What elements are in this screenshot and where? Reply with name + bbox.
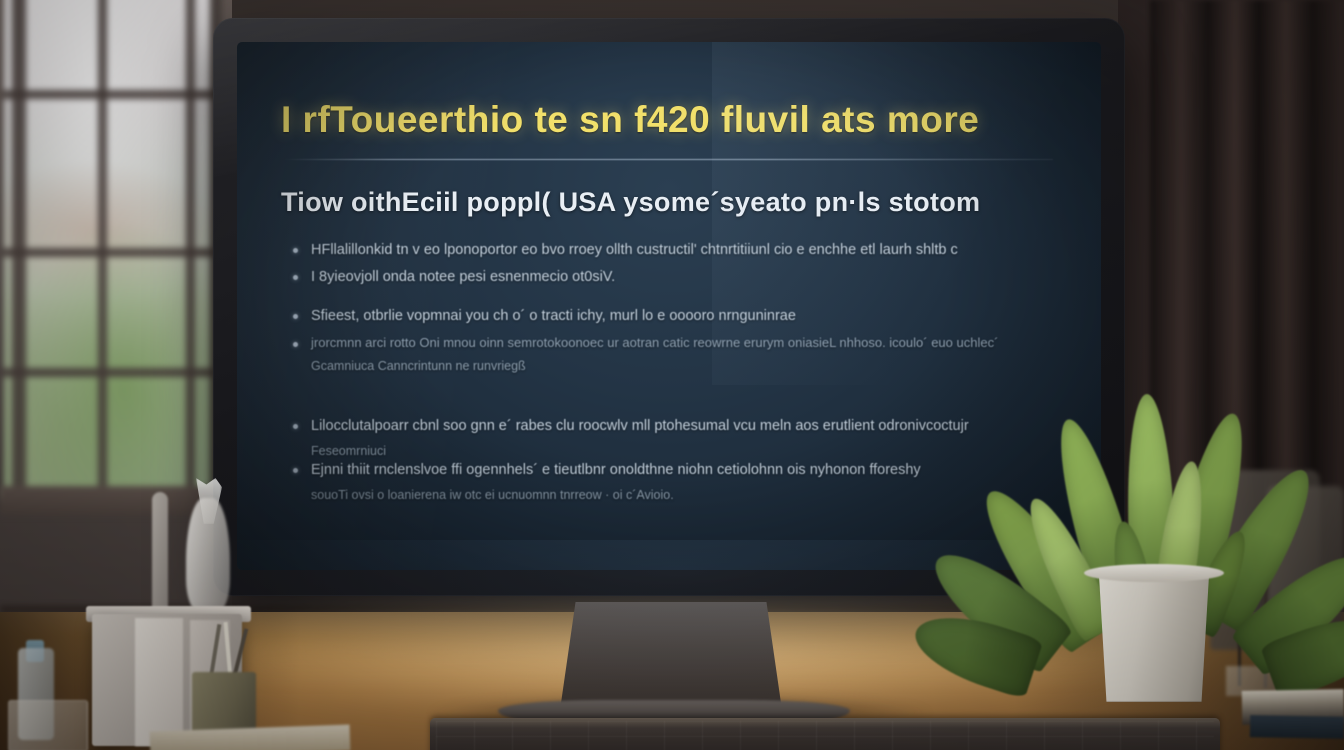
slide-title: I rfToueerthio te sn f420 fluvil ats mor… bbox=[281, 100, 1055, 140]
window bbox=[4, 0, 222, 498]
plant-pot bbox=[1088, 568, 1220, 702]
bullet-spacer bbox=[281, 394, 1055, 416]
bullet-group: Sfieest, otbrlie vopmnai you ch o´ o tra… bbox=[281, 306, 1055, 375]
bullet-group: Lilocclutalpoarr cbnl soo gnn e´ rabes c… bbox=[281, 416, 1055, 505]
bullet-text: Ejnni thiit rnclenslvoe ffi ogennhels´ e… bbox=[311, 462, 921, 478]
window-mullion-horizontal bbox=[4, 368, 222, 377]
monitor-screen[interactable]: I rfToueerthio te sn f420 fluvil ats mor… bbox=[237, 42, 1101, 570]
list-item: HFllalillonkid tn v eo lponoportor eo bv… bbox=[281, 240, 1055, 261]
window-frame-left bbox=[12, 0, 26, 498]
keyboard-highlight bbox=[430, 718, 1220, 728]
bullet-text: Sfieest, otbrlie vopmnai you ch o´ o tra… bbox=[311, 308, 796, 324]
bottle-tall bbox=[152, 492, 168, 620]
plant-pot-rim bbox=[1084, 564, 1224, 582]
presentation-slide: I rfToueerthio te sn f420 fluvil ats mor… bbox=[237, 42, 1101, 570]
bullet-text: I 8yieovjoll onda notee pesi esnenmecio … bbox=[311, 269, 615, 285]
monitor-stand bbox=[560, 602, 782, 710]
office-scene: I rfToueerthio te sn f420 fluvil ats mor… bbox=[0, 0, 1344, 750]
bullet-continuation: Feseomrniuci bbox=[281, 443, 1055, 461]
list-item: Lilocclutalpoarr cbnl soo gnn e´ rabes c… bbox=[281, 416, 1055, 437]
slide-subtitle: Tiow oithEciil poppl( USA ysome´syeato p… bbox=[281, 187, 1055, 218]
list-item: I 8yieovjoll onda notee pesi esnenmecio … bbox=[281, 267, 1055, 288]
list-item: Ejnni thiit rnclenslvoe ffi ogennhels´ e… bbox=[281, 460, 1055, 481]
book bbox=[1250, 715, 1344, 739]
title-divider-rule bbox=[283, 159, 1053, 161]
bullet-continuation: Gcamniuca Canncrintunn ne runvriegß bbox=[281, 358, 1055, 376]
glass-container bbox=[8, 700, 88, 750]
bullet-group: HFllalillonkid tn v eo lponoportor eo bv… bbox=[281, 240, 1055, 288]
list-item: Sfieest, otbrlie vopmnai you ch o´ o tra… bbox=[281, 306, 1055, 327]
storage-box-panel bbox=[135, 618, 183, 746]
bullet-continuation: souoTi ovsi o loanierena iw otc ei ucnuo… bbox=[281, 487, 1055, 505]
window-mullion-horizontal bbox=[4, 248, 222, 257]
slide-bullet-list: HFllalillonkid tn v eo lponoportor eo bv… bbox=[281, 240, 1055, 504]
glass-vase bbox=[186, 498, 230, 614]
bullet-text: jrorcmnn arci rotto Oni mnou oinn semrot… bbox=[311, 335, 998, 350]
bullet-text: HFllalillonkid tn v eo lponoportor eo bv… bbox=[311, 242, 958, 258]
bullet-text: Lilocclutalpoarr cbnl soo gnn e´ rabes c… bbox=[311, 418, 969, 434]
window-mullion-horizontal bbox=[4, 90, 222, 99]
list-item: jrorcmnn arci rotto Oni mnou oinn semrot… bbox=[281, 334, 1055, 353]
keyboard[interactable] bbox=[430, 718, 1220, 750]
